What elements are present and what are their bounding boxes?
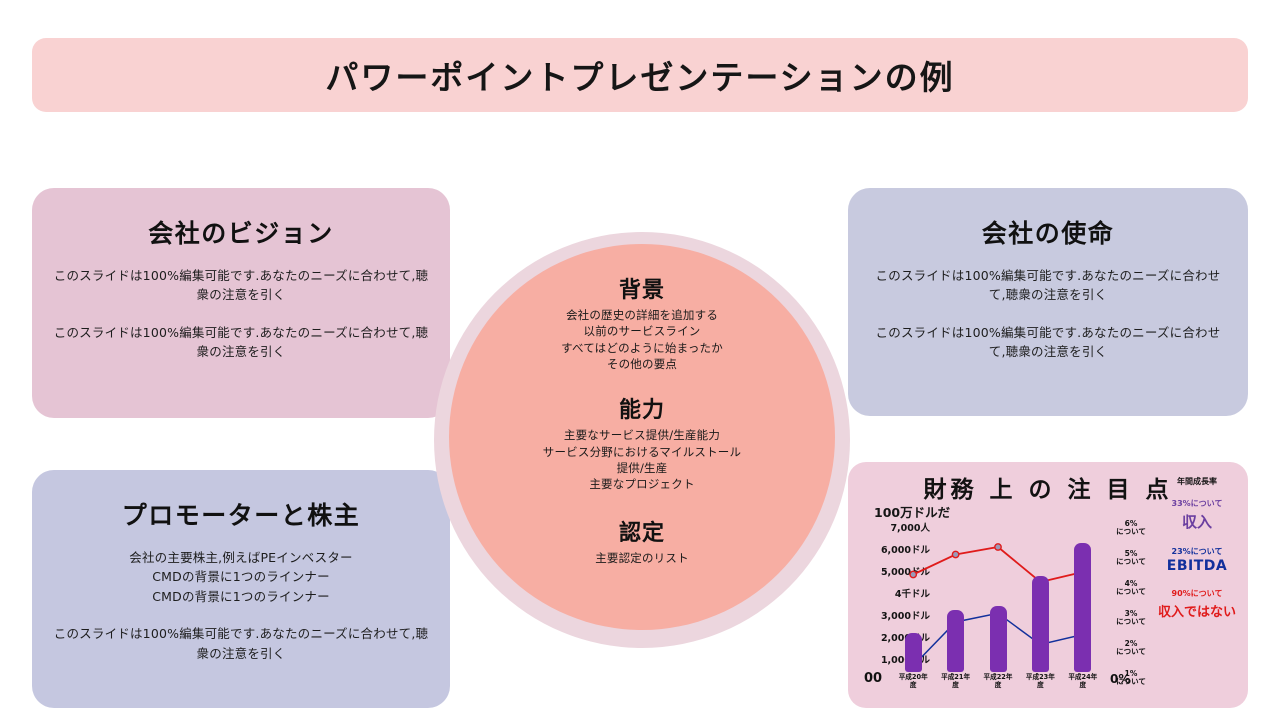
x-tick-4: 平成24年度: [1061, 674, 1105, 689]
card-vision-paragraph-1: このスライドは100%編集可能です.あなたのニーズに合わせて,聴衆の注意を引く: [52, 266, 430, 305]
x-tick-3: 平成23年度: [1018, 674, 1062, 689]
card-vision-paragraph-2: このスライドは100%編集可能です.あなたのニーズに合わせて,聴衆の注意を引く: [52, 323, 430, 362]
center-inner-circle[interactable]: 背景 会社の歴史の詳細を追加する 以前のサービスライン すべてはどのように始まっ…: [449, 244, 835, 630]
card-financial-highlights[interactable]: 財務 上 の 注 目 点 100万ドルだ 7,000人6,000ドル5,000ド…: [848, 462, 1248, 708]
center-heading-background: 背景: [449, 272, 835, 304]
center-lines-background: 会社の歴史の詳細を追加する 以前のサービスライン すべてはどのように始まったか …: [449, 307, 835, 372]
chart-point-0: [910, 571, 916, 577]
card-company-mission[interactable]: 会社の使命 このスライドは100%編集可能です.あなたのニーズに合わせて,聴衆の…: [848, 188, 1248, 416]
card-vision-heading: 会社のビジョン: [52, 214, 430, 250]
chart-bar-1: [947, 610, 964, 672]
card-company-vision[interactable]: 会社のビジョン このスライドは100%編集可能です.あなたのニーズに合わせて,聴…: [32, 188, 450, 418]
center-heading-ability: 能力: [449, 392, 835, 424]
x-tick-2: 平成22年度: [976, 674, 1020, 689]
presentation-slide: パワーポイントプレゼンテーションの例 会社のビジョン このスライドは100%編集…: [0, 0, 1280, 720]
legend-revenue-name: 収入: [1148, 511, 1246, 532]
chart-point-2: [995, 544, 1001, 550]
center-lines-certification: 主要認定のリスト: [449, 550, 835, 566]
card-mission-paragraph-1: このスライドは100%編集可能です.あなたのニーズに合わせて,聴衆の注意を引く: [868, 266, 1228, 305]
card-mission-heading: 会社の使命: [868, 214, 1228, 250]
slide-title-banner: パワーポイントプレゼンテーションの例: [32, 38, 1248, 112]
chart-plot-area: [892, 522, 1104, 672]
center-block-background: 背景 会社の歴史の詳細を追加する 以前のサービスライン すべてはどのように始まっ…: [449, 272, 835, 372]
card-promoter-paragraph-2: このスライドは100%編集可能です.あなたのニーズに合わせて,聴衆の注意を引く: [52, 624, 430, 663]
x-tick-1: 平成21年度: [934, 674, 978, 689]
chart-bar-4: [1074, 543, 1091, 672]
legend-entry-revenue: 33%について 収入: [1148, 500, 1246, 531]
y2-tick-4: 2%について: [1106, 640, 1156, 670]
center-block-ability: 能力 主要なサービス提供/生産能力 サービス分野におけるマイルストール 提供/生…: [449, 392, 835, 492]
center-heading-certification: 認定: [449, 515, 835, 547]
legend-ebitda-pct: 23%について: [1148, 548, 1246, 556]
center-lines-ability: 主要なサービス提供/生産能力 サービス分野におけるマイルストール 提供/生産 主…: [449, 427, 835, 492]
legend-non-revenue-name: 収入ではない: [1148, 601, 1246, 620]
chart-bar-0: [905, 633, 922, 672]
legend-non-revenue-pct: 90%について: [1148, 590, 1246, 598]
chart-point-1: [952, 551, 958, 557]
chart-x-axis: 平成20年度平成21年度平成22年度平成23年度平成24年度: [892, 674, 1104, 700]
chart-legend-title: 年間成長率: [1148, 478, 1246, 486]
legend-entry-non-revenue: 90%について 収入ではない: [1148, 590, 1246, 619]
legend-entry-ebitda: 23%について EBITDA: [1148, 548, 1246, 574]
chart-bar-3: [1032, 576, 1049, 672]
legend-revenue-pct: 33%について: [1148, 500, 1246, 508]
chart-zero-left-label: 00: [864, 671, 882, 686]
chart-legend: 年間成長率 33%について 収入 23%について EBITDA 90%について …: [1148, 478, 1246, 636]
card-promoter-heading: プロモーターと株主: [52, 496, 430, 532]
page-title: パワーポイントプレゼンテーションの例: [325, 51, 954, 99]
card-mission-paragraph-2: このスライドは100%編集可能です.あなたのニーズに合わせて,聴衆の注意を引く: [868, 323, 1228, 362]
x-tick-0: 平成20年度: [891, 674, 935, 689]
chart-zero-right-label: 0%: [1110, 672, 1130, 686]
legend-ebitda-name: EBITDA: [1148, 558, 1246, 574]
center-block-certification: 認定 主要認定のリスト: [449, 515, 835, 566]
card-promoter-shareholders[interactable]: プロモーターと株主 会社の主要株主,例えばPEインベスター CMDの背景に1つの…: [32, 470, 450, 708]
line-series-non-revenue: [913, 547, 1083, 582]
chart-bar-2: [990, 606, 1007, 672]
card-promoter-paragraph-1: 会社の主要株主,例えばPEインベスター CMDの背景に1つのラインナー CMDの…: [52, 548, 430, 606]
